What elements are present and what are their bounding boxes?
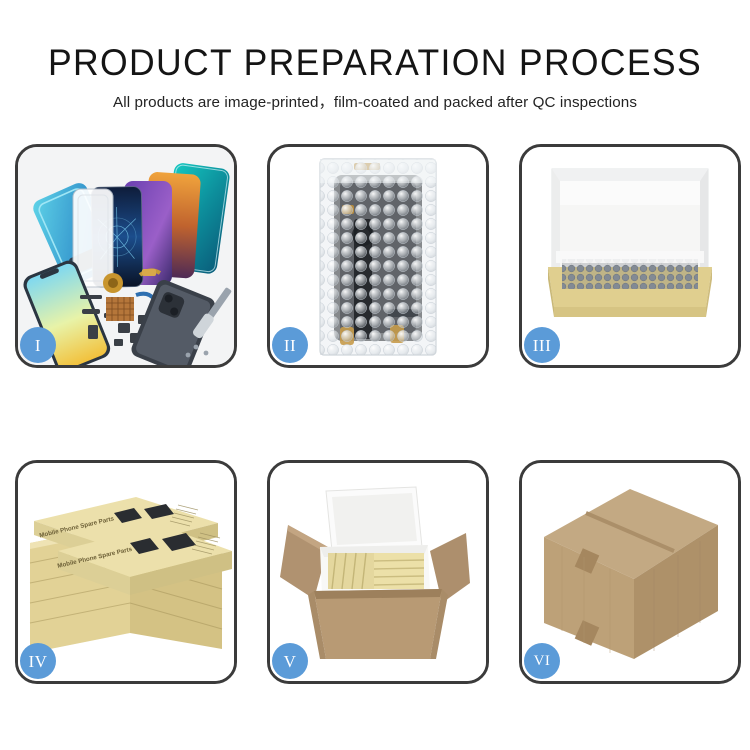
panel-1-badge: I xyxy=(20,327,56,363)
page-title: PRODUCT PREPARATION PROCESS xyxy=(15,0,735,81)
infographic-page: PRODUCT PREPARATION PROCESS All products… xyxy=(0,0,750,750)
process-panel-grid: I xyxy=(15,144,735,684)
process-panel-3: III xyxy=(519,144,741,368)
panel-5-badge: V xyxy=(272,643,308,679)
page-subtitle: All products are image-printed，film-coat… xyxy=(0,81,750,110)
process-panel-2: II xyxy=(267,144,489,368)
panel-4-badge: IV xyxy=(20,643,56,679)
process-panel-5: V xyxy=(267,460,489,684)
panel-6-badge: VI xyxy=(524,643,560,679)
process-panel-4: Mobile Phone Spare Parts xyxy=(15,460,237,684)
header: PRODUCT PREPARATION PROCESS All products… xyxy=(0,0,750,110)
process-panel-6: VI xyxy=(519,460,741,684)
process-panel-1: I xyxy=(15,144,237,368)
panel-2-badge: II xyxy=(272,327,308,363)
panel-3-badge: III xyxy=(524,327,560,363)
